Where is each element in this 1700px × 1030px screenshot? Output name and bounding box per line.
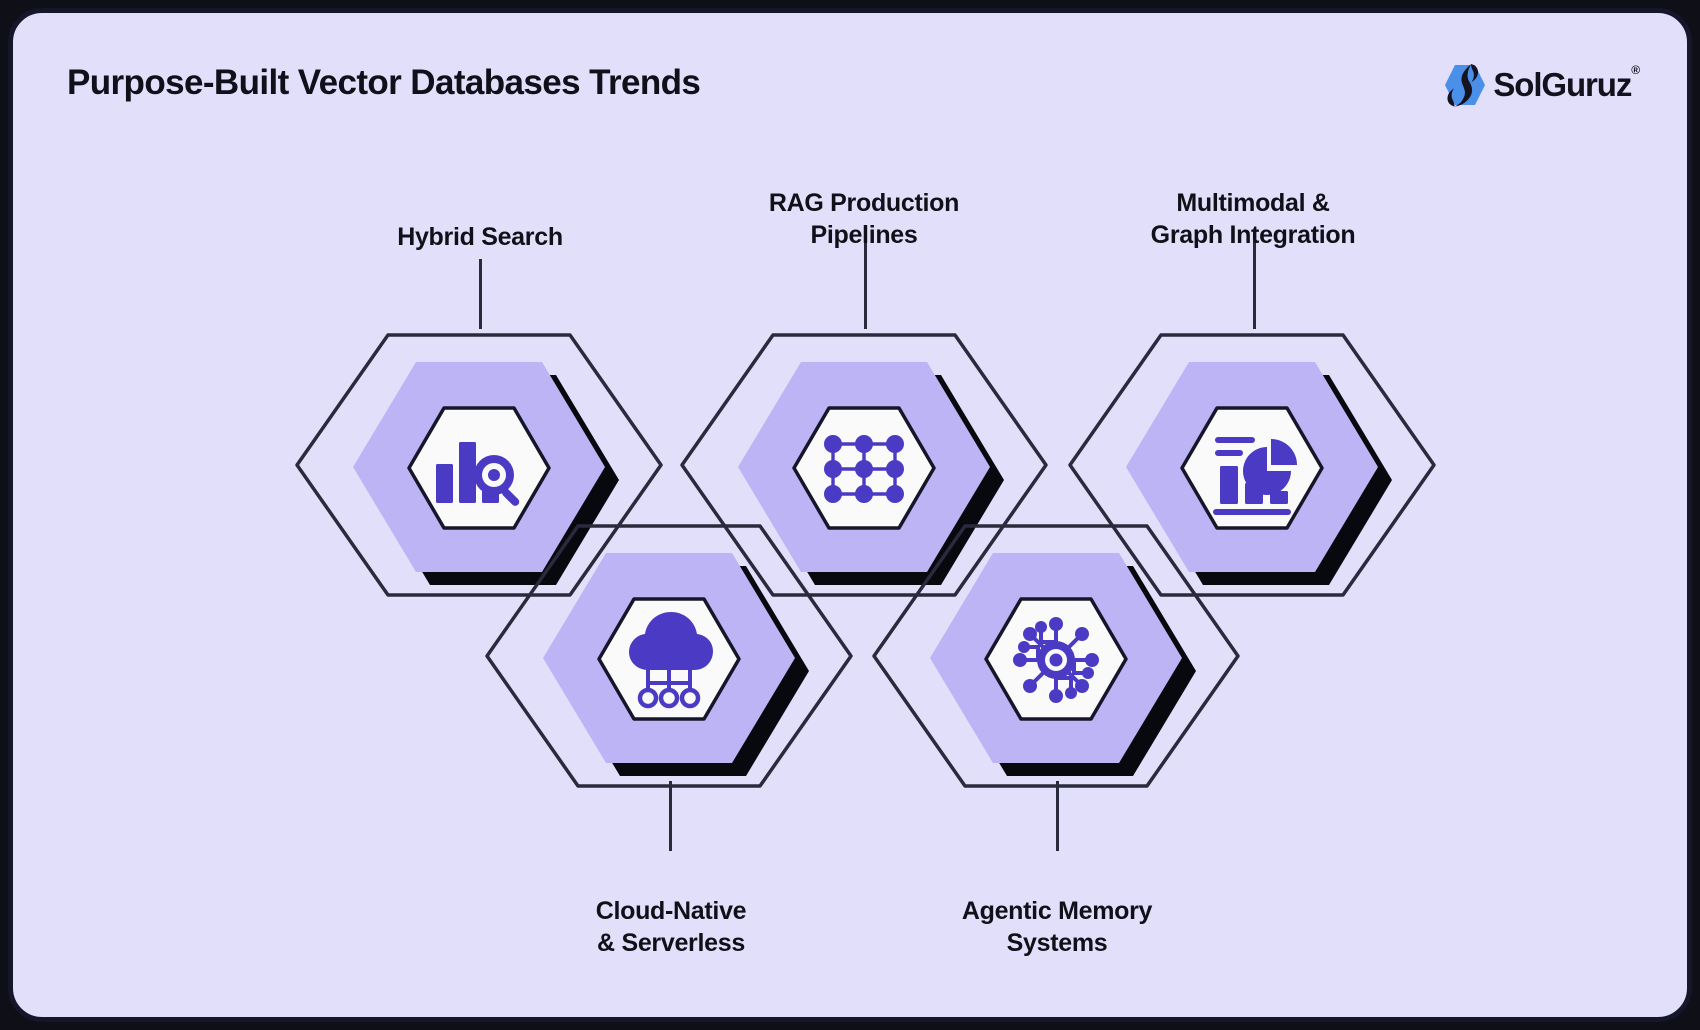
label-line-1: Cloud-Native: [511, 895, 831, 927]
connector-hybrid-search: [479, 259, 482, 329]
label-cloud-native-serverless: Cloud-Native & Serverless: [511, 895, 831, 959]
infographic-card: Purpose-Built Vector Databases Trends So…: [8, 8, 1692, 1022]
logo-text-label: SolGuruz: [1493, 66, 1631, 103]
hex-node-grid-icon: [824, 435, 904, 503]
label-line-2: & Serverless: [511, 927, 831, 959]
label-agentic-memory-systems: Agentic Memory Systems: [897, 895, 1217, 959]
label-line-1: RAG Production: [704, 187, 1024, 219]
label-rag-production-pipelines: RAG Production Pipelines: [704, 187, 1024, 251]
node-cloud-native-serverless[interactable]: [508, 520, 808, 780]
connector-multimodal: [1253, 241, 1256, 329]
registered-trademark-icon: ®: [1631, 63, 1639, 77]
radial-neural-hub-icon: [1013, 617, 1099, 703]
connector-cloud-native: [669, 781, 672, 851]
label-line-1: Hybrid Search: [320, 221, 640, 253]
label-line-2: Systems: [897, 927, 1217, 959]
solguruz-hexagon-swoosh-logo: [1441, 61, 1489, 109]
node-agentic-memory-systems[interactable]: [895, 520, 1195, 780]
connector-agentic-memory: [1056, 781, 1059, 851]
label-hybrid-search: Hybrid Search: [320, 221, 640, 253]
label-line-2: Pipelines: [704, 219, 1024, 251]
connector-rag-pipelines: [864, 241, 867, 329]
label-line-1: Agentic Memory: [897, 895, 1217, 927]
label-line-1: Multimodal &: [1093, 187, 1413, 219]
brand-logo: SolGuruz®: [1441, 61, 1639, 109]
label-line-2: Graph Integration: [1093, 219, 1413, 251]
label-multimodal-graph-integration: Multimodal & Graph Integration: [1093, 187, 1413, 251]
infographic-canvas: Purpose-Built Vector Databases Trends So…: [0, 0, 1700, 1030]
page-title: Purpose-Built Vector Databases Trends: [67, 63, 700, 103]
logo-wordmark: SolGuruz®: [1493, 66, 1639, 104]
